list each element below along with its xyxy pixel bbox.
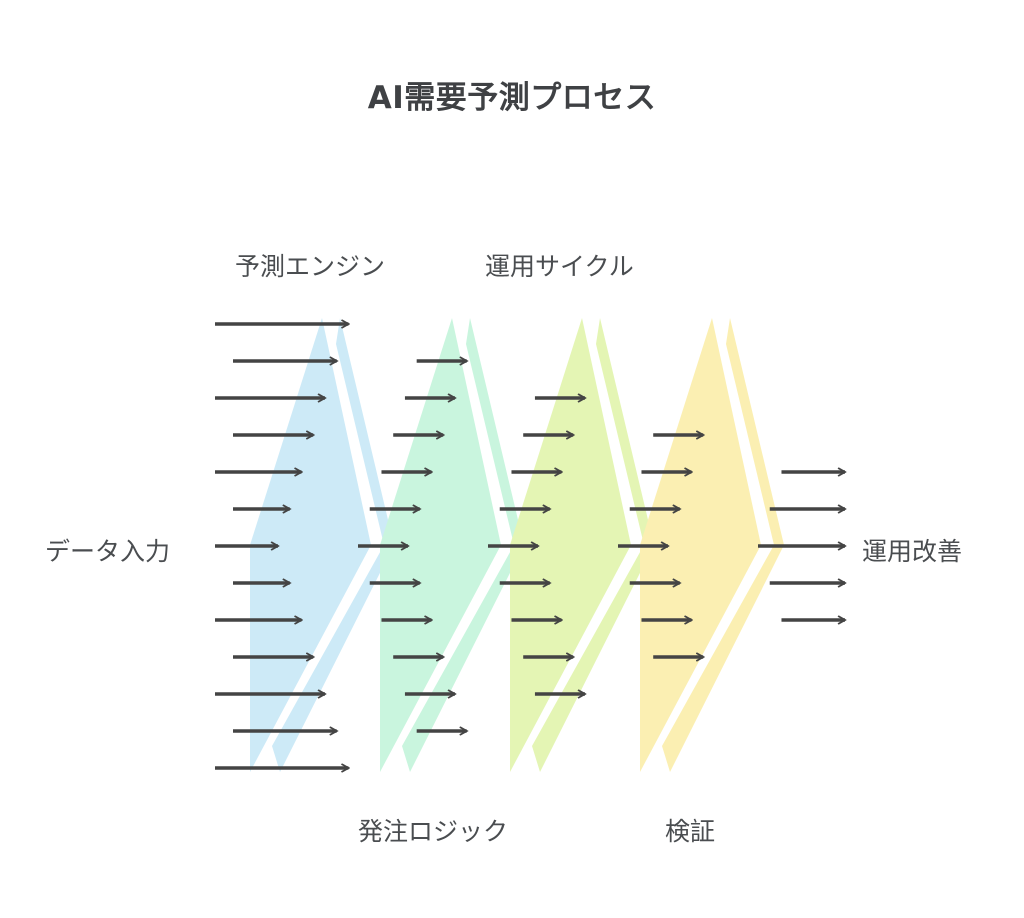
diagram-page: AI需要予測プロセス 予測エンジン 運用サイクル 発注ロジック 検証 データ入力… <box>0 0 1024 918</box>
stage-label-order-logic: 発注ロジック <box>358 812 508 848</box>
stage-label-validation: 検証 <box>665 812 715 848</box>
input-label-data-entry: データ入力 <box>45 532 170 568</box>
stage-label-forecast-engine: 予測エンジン <box>235 247 385 283</box>
flow-diagram-canvas <box>0 0 1024 918</box>
output-label-operational-improvement: 運用改善 <box>862 532 962 568</box>
stage-label-operation-cycle: 運用サイクル <box>485 247 634 283</box>
